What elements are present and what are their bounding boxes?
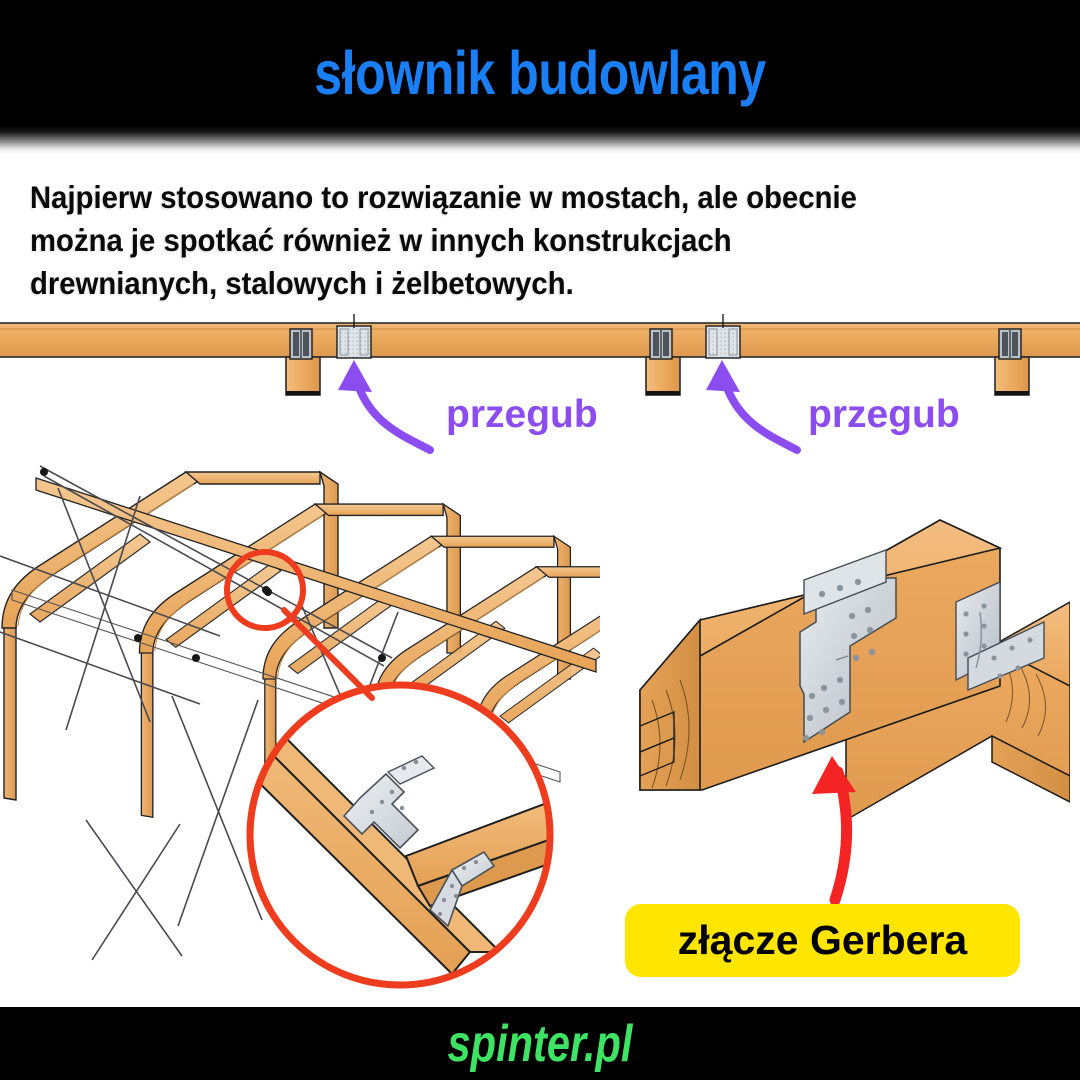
hinge-plate-icon bbox=[706, 314, 740, 358]
infographic-page: słownik budowlany Najpierw stosowano to … bbox=[0, 0, 1080, 1080]
footer-site: spinter.pl bbox=[108, 1014, 972, 1074]
beam-column bbox=[646, 357, 680, 395]
body-paragraph: Najpierw stosowano to rozwiązanie w most… bbox=[30, 176, 969, 305]
column-bracket-icon bbox=[290, 329, 312, 359]
beam-column bbox=[286, 357, 320, 395]
gerber-label-chip: złącze Gerbera bbox=[625, 904, 1020, 977]
beam-column bbox=[995, 357, 1029, 395]
gerber-joint-detail bbox=[600, 490, 1070, 890]
label-przegub-right: przegub bbox=[808, 393, 960, 437]
page-title: słownik budowlany bbox=[97, 38, 983, 108]
main-beam bbox=[0, 323, 1080, 357]
label-przegub-left: przegub bbox=[446, 393, 598, 437]
gerber-label-text: złącze Gerbera bbox=[625, 904, 1020, 977]
hinge-plate-icon bbox=[337, 314, 371, 358]
header-fade-divider bbox=[0, 126, 1080, 154]
roof-truss-illustration bbox=[0, 400, 600, 1000]
column-bracket-icon bbox=[650, 329, 672, 359]
column-bracket-icon bbox=[999, 329, 1021, 359]
